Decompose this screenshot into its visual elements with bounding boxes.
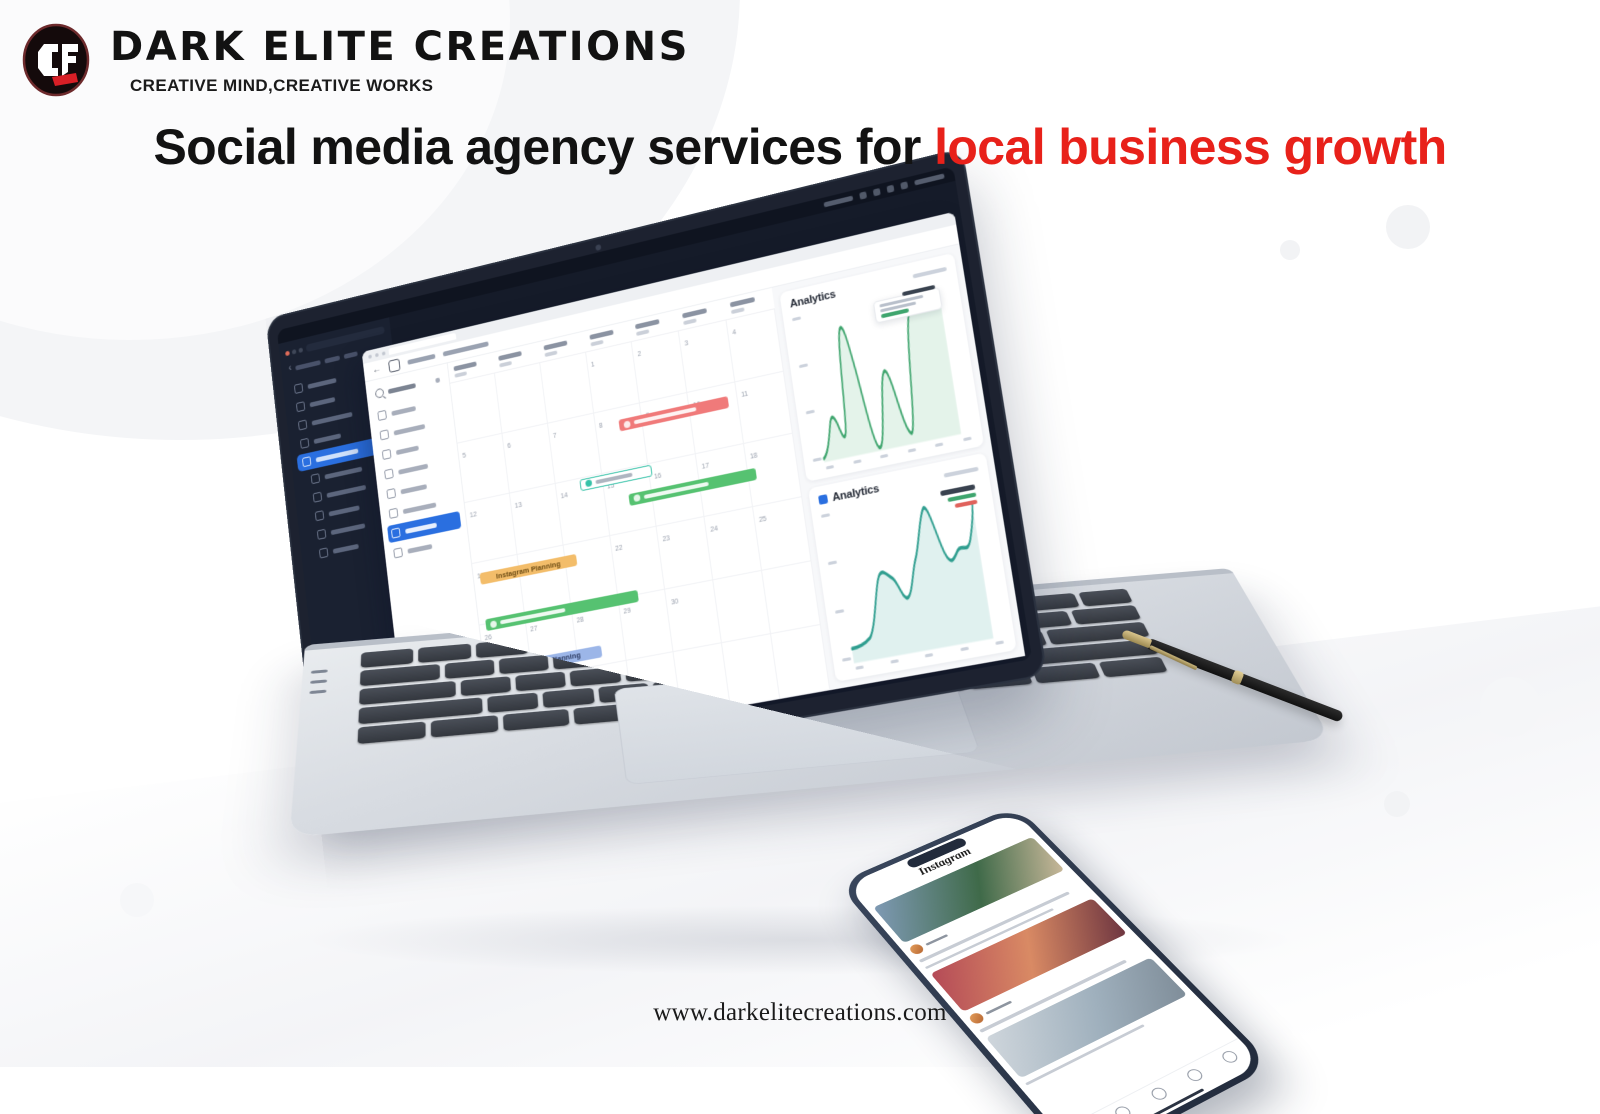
clock-icon [490, 620, 497, 628]
webcam-icon [595, 244, 601, 251]
home-icon [294, 383, 303, 394]
weekday-cell [448, 353, 495, 383]
panel-item-active[interactable] [387, 511, 461, 543]
sidebar-item-7[interactable] [303, 489, 405, 527]
sidebar-item-label [324, 466, 362, 479]
pin-icon [300, 438, 309, 449]
toolbar-label [443, 341, 489, 356]
weekday-cell [492, 342, 540, 372]
panel-item-4[interactable] [380, 452, 454, 485]
calendar-cell[interactable] [762, 561, 821, 635]
sidebar-item-1[interactable] [289, 359, 390, 399]
wifi-icon[interactable] [859, 191, 867, 199]
event-label: Instagram Planning [496, 559, 561, 581]
calendar-cell[interactable]: 24 [705, 507, 762, 580]
minimize-icon[interactable] [375, 352, 379, 356]
panel-item-label [403, 502, 437, 514]
profile-icon[interactable] [1220, 1049, 1241, 1065]
battery-icon [887, 185, 895, 193]
calendar-cell[interactable] [771, 625, 830, 699]
calendar-cell[interactable]: 6 [502, 423, 555, 493]
event-label [500, 608, 566, 625]
sidebar-item-label [314, 433, 341, 444]
camera-icon [585, 480, 592, 488]
weekday-cell [629, 310, 679, 341]
chart-icon [296, 401, 305, 412]
sidebar-item-label [312, 411, 353, 425]
calendar-cell[interactable] [495, 363, 548, 433]
sidebar-item-3[interactable] [293, 396, 395, 435]
calendar-cell[interactable]: 14 [555, 474, 609, 545]
sidebar-item-8[interactable] [305, 508, 408, 546]
calendar-cell[interactable]: 5 [457, 433, 509, 503]
calendar-cell[interactable]: 8 [594, 403, 649, 474]
panel-item-1[interactable] [373, 393, 447, 426]
url-field[interactable] [306, 326, 385, 352]
sidebar-item-label [329, 505, 360, 516]
sidebar-item-label [310, 397, 336, 407]
post-username [925, 934, 948, 946]
message-icon [313, 492, 322, 503]
brand-logo: DARK ELITE CREATIONS CREATIVE MIND,CREAT… [18, 22, 690, 98]
analytics-chart-2 [820, 478, 1006, 672]
calendar-event-instagram-planning[interactable]: Instagram Planning [480, 554, 578, 585]
footer-website-url[interactable]: www.darkelitecreations.com [0, 999, 1600, 1027]
sidebar-item-9[interactable] [307, 527, 410, 565]
panel-item-6[interactable] [385, 491, 459, 523]
weekday-cell [583, 321, 632, 352]
card-period-selector[interactable] [944, 466, 979, 477]
search-icon[interactable] [873, 188, 881, 196]
grid-icon [386, 488, 396, 499]
tag-icon [315, 510, 324, 521]
browser-address-bar[interactable] [285, 326, 385, 357]
calendar-cell[interactable]: 13 [510, 484, 564, 555]
calendar-cell[interactable]: 2 [632, 331, 687, 403]
back-icon[interactable]: ← [372, 364, 382, 375]
sidebar-item-label [333, 543, 359, 553]
calendar-cell[interactable]: 25 [753, 497, 811, 570]
laptop-mockup: ‹ [245, 225, 1325, 985]
clock-icon [623, 420, 630, 428]
sidebar-item-label [326, 484, 366, 497]
calendar-cell[interactable] [540, 353, 594, 424]
sidebar-item-5[interactable] [299, 452, 401, 491]
calendar-cell[interactable]: 20 [517, 546, 571, 617]
panel-item-label [400, 484, 427, 494]
close-icon[interactable] [368, 354, 372, 358]
control-center-icon[interactable] [900, 181, 908, 189]
calendar-icon[interactable] [388, 358, 401, 373]
toolbar-label [407, 354, 435, 365]
calendar-cell[interactable]: 3 [679, 320, 735, 392]
brand-name: DARK ELITE CREATIONS [110, 27, 690, 67]
sidebar-item-active[interactable] [297, 433, 399, 472]
sidebar-item-label [316, 448, 359, 462]
sidebar-item-label [331, 523, 366, 535]
layers-icon [384, 468, 394, 479]
star-icon [382, 449, 392, 460]
calendar-cell[interactable]: 12 [465, 494, 518, 564]
card-menu-icon[interactable] [913, 267, 947, 279]
chart-icon [389, 508, 399, 519]
calendar-cell[interactable]: 11 [735, 371, 793, 444]
panel-item-label [396, 445, 419, 455]
calendar-cell[interactable]: 22 [610, 527, 666, 599]
calendar-cell[interactable]: 9 [640, 393, 696, 465]
window-traffic-lights[interactable] [285, 347, 303, 356]
panel-item-label [398, 463, 428, 474]
clock-icon [380, 429, 390, 440]
analytics-icon [818, 494, 828, 505]
search-input[interactable] [371, 371, 444, 402]
panel-item-label [405, 522, 437, 533]
panel-item-label [394, 423, 426, 435]
search-icon[interactable] [1112, 1104, 1133, 1114]
panel-item-2[interactable] [376, 412, 450, 445]
panel-item-label [391, 405, 416, 415]
weekday-cell [537, 332, 585, 362]
browser-tab[interactable] [388, 333, 456, 355]
analytics-chart-1 [791, 279, 973, 472]
panel-item-3[interactable] [378, 432, 452, 465]
calendar-cell[interactable]: 4 [727, 309, 784, 382]
calendar-cell[interactable]: 19 [472, 555, 525, 625]
sidebar-item-label [307, 377, 336, 388]
sidebar-item-4[interactable] [295, 415, 397, 454]
search-icon [375, 388, 385, 399]
avatar[interactable] [908, 943, 926, 956]
heart-icon[interactable] [1184, 1067, 1205, 1083]
check-icon [633, 494, 640, 502]
page-headline: Social media agency services for local b… [0, 118, 1600, 176]
headline-accent: local business growth [934, 119, 1447, 175]
gear-icon [319, 547, 328, 558]
folder-icon [298, 419, 307, 430]
sidebar-item-2[interactable] [291, 378, 392, 418]
reels-icon[interactable] [1149, 1086, 1170, 1102]
de-monogram-badge-icon [18, 22, 94, 98]
calendar-cell[interactable]: 30 [665, 580, 722, 653]
analytics-card-1: Analytics [779, 253, 984, 481]
panel-item-5[interactable] [383, 471, 457, 503]
image-icon [311, 473, 320, 484]
calendar-cell[interactable] [450, 373, 502, 443]
calendar-cell[interactable] [713, 570, 771, 643]
device-scene: ‹ [0, 215, 1600, 1005]
calendar-icon [302, 456, 311, 467]
event-label [596, 473, 633, 485]
calendar-icon [391, 527, 401, 538]
filter-icon[interactable] [435, 377, 440, 383]
calendar-cell[interactable]: 7 [548, 413, 602, 484]
calendar-cell[interactable]: 23 [657, 517, 713, 589]
panel-item-7[interactable] [389, 531, 463, 563]
users-icon [317, 529, 326, 540]
sidebar-item-6[interactable] [301, 470, 403, 509]
calendar-cell[interactable]: 10 [688, 382, 745, 454]
folder-icon [377, 410, 387, 421]
analytics-card-2: Analytics [808, 452, 1017, 682]
collapse-icon[interactable] [375, 364, 385, 375]
search-placeholder [388, 383, 416, 394]
calendar-cell[interactable]: 1 [586, 342, 641, 413]
gear-icon [393, 547, 403, 558]
maximize-icon[interactable] [382, 351, 386, 355]
laptop-ports [309, 669, 327, 694]
breadcrumb: ‹ [288, 342, 387, 374]
headline-lead: Social media agency services for [153, 119, 934, 175]
panel-item-label [407, 543, 432, 553]
brand-tagline: CREATIVE MIND,CREATIVE WORKS [130, 77, 690, 94]
back-icon[interactable]: ‹ [288, 364, 292, 374]
